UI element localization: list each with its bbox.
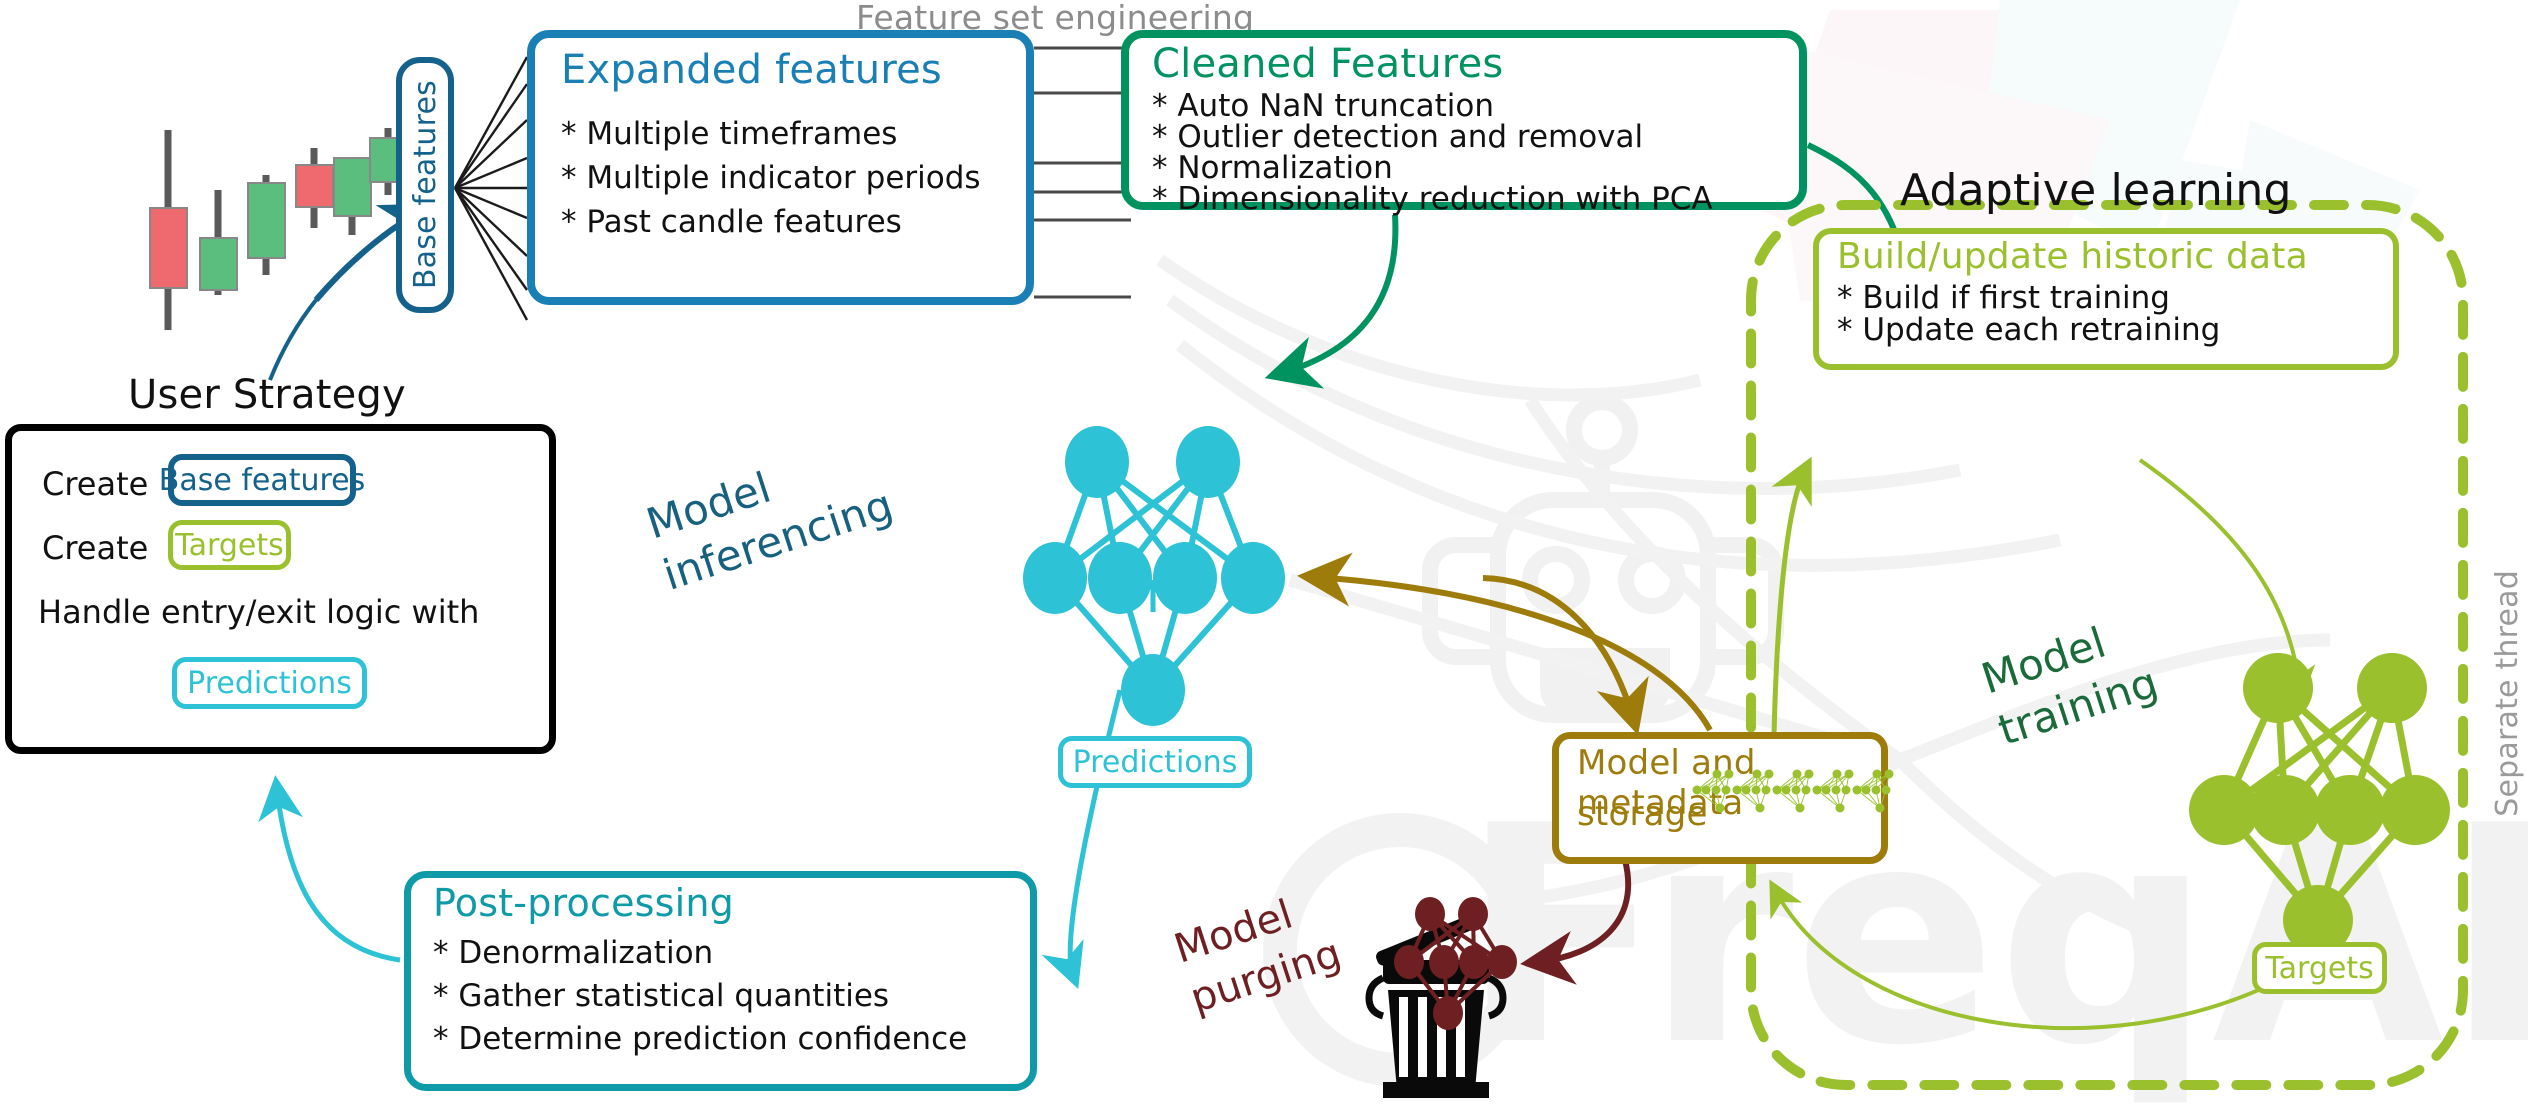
targets-tag[interactable]: Targets [2252,942,2387,994]
training-neural-network [0,0,2539,1104]
separate-thread-label: Separate thread [2490,570,2525,817]
targets-tag-label: Targets [2265,951,2373,986]
diagram-canvas: FreqAI [0,0,2539,1104]
